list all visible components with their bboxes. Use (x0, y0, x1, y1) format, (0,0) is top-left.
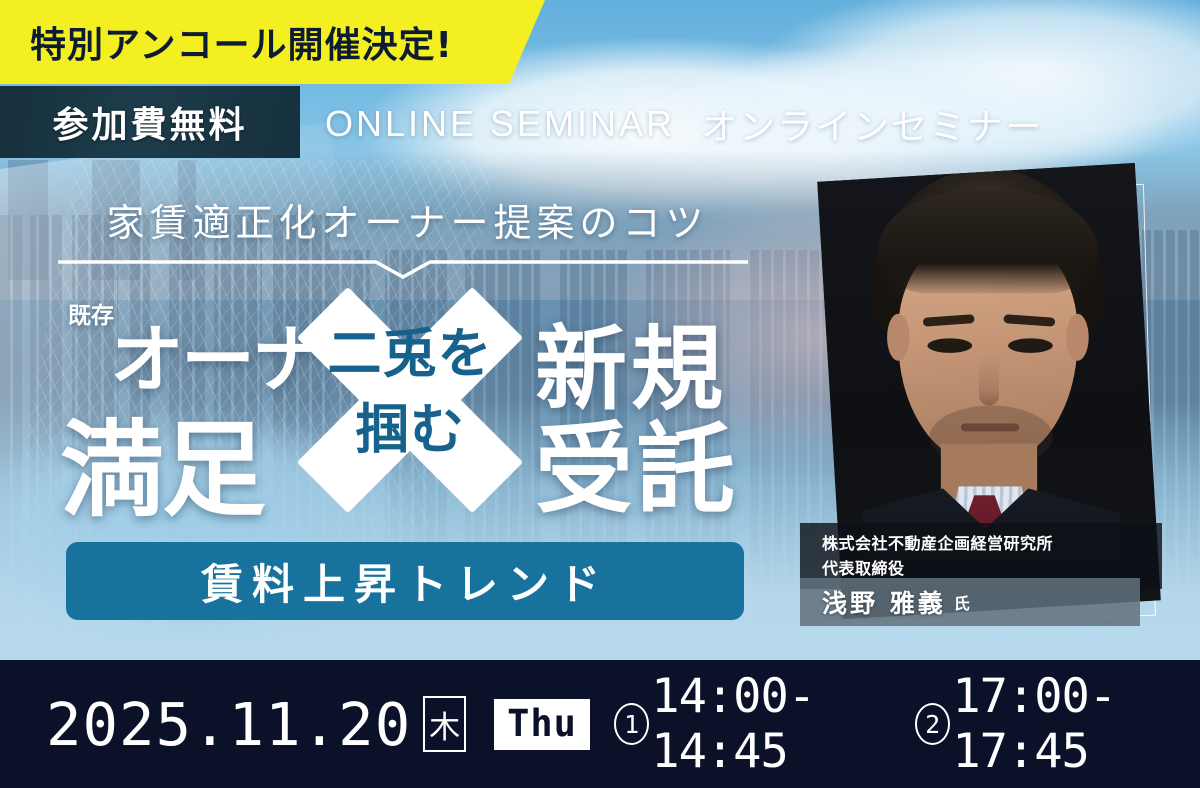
headline-entrust: 受託 (535, 390, 739, 532)
seminar-banner: 特別アンコール開催決定! 参加費無料 ONLINE SEMINAR オンラインセ… (0, 0, 1200, 788)
topic-pill-label: 賃料上昇トレンド (201, 551, 609, 612)
mouth (961, 423, 1019, 431)
speaker-name-block: 浅野 雅義 氏 (800, 578, 1140, 626)
ear-right (1066, 314, 1088, 361)
session-2: 2 17:00-17:45 (915, 669, 1200, 779)
hair-front (878, 191, 1098, 294)
x-overlay-text: 二兎を 掴む (304, 316, 516, 468)
session-1-time: 14:00-14:45 (651, 669, 899, 779)
subtitle-divider-icon (58, 258, 748, 280)
session-2-number: 2 (915, 703, 950, 745)
online-seminar-header: ONLINE SEMINAR オンラインセミナー (325, 95, 1043, 153)
existing-label-char: 既存 (68, 303, 114, 329)
weekday-en-badge: Thu (494, 699, 590, 750)
encore-badge: 特別アンコール開催決定! (0, 0, 545, 84)
free-admission-label: 参加費無料 (52, 96, 247, 148)
session-1: 1 14:00-14:45 (614, 669, 899, 779)
existing-label: 既存 (68, 303, 114, 329)
eye-right (1008, 338, 1053, 353)
topic-pill[interactable]: 賃料上昇トレンド (66, 542, 744, 620)
x-text-line2: 掴む (304, 392, 516, 468)
session-1-number: 1 (614, 703, 649, 745)
eye-left (927, 338, 972, 353)
speaker-company: 株式会社不動産企画経営研究所 (822, 531, 1162, 556)
speaker-honorific: 氏 (954, 590, 970, 614)
subtitle: 家賃適正化オーナー提案のコツ (75, 192, 740, 247)
ear-left (887, 314, 909, 361)
seminar-en-label: ONLINE SEMINAR (325, 103, 675, 145)
x-text-line1: 二兎を (304, 316, 516, 392)
schedule-bar: 2025.11.20 木 Thu 1 14:00-14:45 2 17:00-1… (0, 660, 1200, 788)
seminar-jp-label: オンラインセミナー (701, 98, 1043, 150)
session-2-time: 17:00-17:45 (952, 669, 1200, 779)
speaker-name: 浅野 雅義 (822, 584, 946, 620)
free-admission-badge: 参加費無料 (0, 86, 300, 158)
weekday-jp-box: 木 (423, 696, 466, 752)
nose (979, 356, 999, 405)
event-date: 2025.11.20 (46, 690, 411, 759)
encore-badge-label: 特別アンコール開催決定! (30, 16, 453, 68)
headline-satisfaction: 満足 (60, 385, 264, 536)
